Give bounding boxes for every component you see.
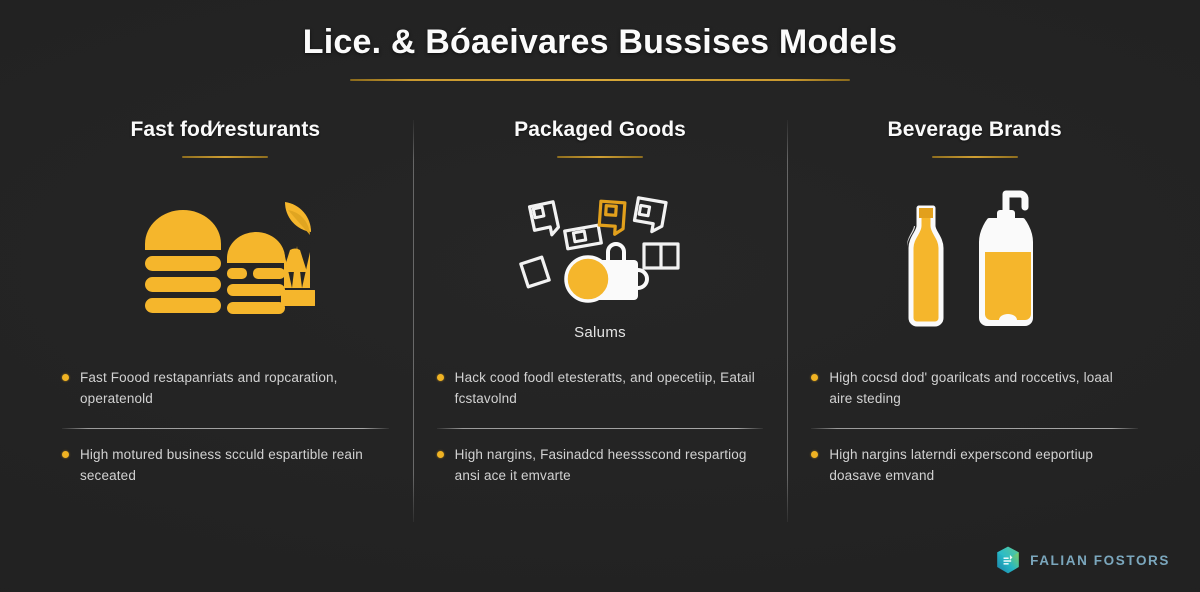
column-heading: Packaged Goods (435, 118, 766, 142)
column-fast-food: Fast fod⁄resturants (38, 118, 413, 534)
column-packaged-goods: Packaged Goods (413, 118, 788, 534)
bullet-item: High cocsd dod' goarilcats and roccetivs… (809, 368, 1140, 410)
bullet-text: Fast Foood restapanriats and ropcaration… (80, 368, 389, 410)
bullet-text: High motured business scculd espartible … (80, 445, 389, 487)
burger-stack-icon (135, 186, 315, 326)
bullet-dot-icon (811, 374, 818, 381)
bullet-list-beverage-brands: High cocsd dod' goarilcats and roccetivs… (809, 368, 1140, 487)
bottles-icon (885, 180, 1065, 332)
bullet-dot-icon (811, 451, 818, 458)
bullet-item: Fast Foood restapanriats and ropcaration… (60, 368, 391, 410)
columns-container: Fast fod⁄resturants (38, 118, 1162, 534)
brand-name: FALIAN FOSTORS (1030, 553, 1170, 568)
bullet-item: High nargins laterndi experscond eeporti… (809, 445, 1140, 487)
column-heading: Fast fod⁄resturants (60, 118, 391, 142)
bullet-separator (811, 428, 1138, 429)
brand-footer: FALIAN FOSTORS (995, 546, 1170, 574)
bullet-dot-icon (62, 451, 69, 458)
page-title: Lice. & Bóaeivares Bussises Models (0, 22, 1200, 63)
title-block: Lice. & Bóaeivares Bussises Models (0, 22, 1200, 81)
slide-canvas: Lice. & Bóaeivares Bussises Models Fast … (0, 0, 1200, 592)
bullet-text: High cocsd dod' goarilcats and roccetivs… (829, 368, 1138, 410)
icon-caption: Salums (574, 324, 626, 341)
bullet-text: High nargins laterndi experscond eeporti… (829, 445, 1138, 487)
packaged-boxes-icon (510, 182, 690, 314)
bullet-dot-icon (437, 451, 444, 458)
icon-area-packaged-goods: Salums (435, 158, 766, 364)
bullet-item: High motured business scculd espartible … (60, 445, 391, 487)
title-underline (350, 79, 850, 81)
column-beverage-brands: Beverage Brands (787, 118, 1162, 534)
icon-area-fast-food (60, 158, 391, 364)
bullet-text: High nargins, Fasinadcd heessscond respa… (455, 445, 764, 487)
column-heading: Beverage Brands (809, 118, 1140, 142)
bullet-list-packaged-goods: Hack cood foodl etesteratts, and opeceti… (435, 368, 766, 487)
bullet-item: High nargins, Fasinadcd heessscond respa… (435, 445, 766, 487)
bullet-text: Hack cood foodl etesteratts, and opeceti… (455, 368, 764, 410)
bullet-list-fast-food: Fast Foood restapanriats and ropcaration… (60, 368, 391, 487)
icon-area-beverage (809, 158, 1140, 364)
bullet-item: Hack cood foodl etesteratts, and opeceti… (435, 368, 766, 410)
bullet-dot-icon (437, 374, 444, 381)
cube-logo-icon (995, 546, 1021, 574)
bullet-separator (62, 428, 389, 429)
bullet-separator (437, 428, 764, 429)
bullet-dot-icon (62, 374, 69, 381)
